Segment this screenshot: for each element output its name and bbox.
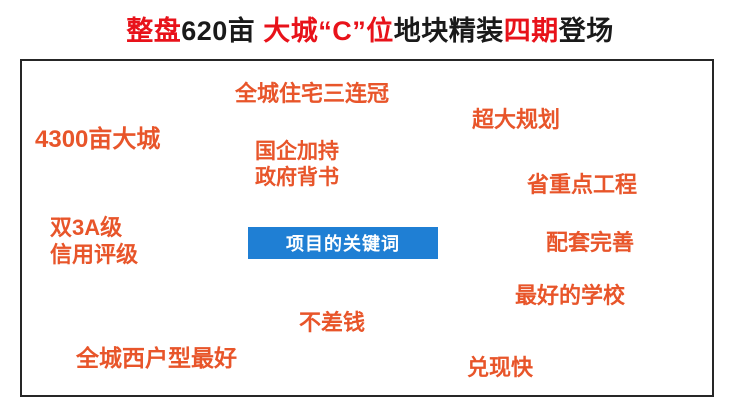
keyword-duixiankuai: 兑现快 [467, 355, 533, 381]
keyword-line: 双3A级 [50, 215, 138, 242]
title-segment-4: 位 [366, 16, 394, 46]
keyword-peitaowanshan: 配套完善 [546, 230, 634, 256]
title-segment-1: 620亩 [181, 16, 255, 46]
title-segment-3: “C” [318, 16, 366, 46]
title-segment-2: 大城 [255, 16, 318, 46]
keyword-shengzhongdian: 省重点工程 [527, 172, 637, 198]
keyword-line: 不差钱 [299, 310, 365, 336]
slide-canvas: 整盘620亩 大城“C”位地块精装四期登场 全城住宅三连冠超大规划4300亩大城… [0, 0, 740, 416]
keyword-chaodaguihua: 超大规划 [472, 107, 560, 133]
keyword-line: 配套完善 [546, 230, 634, 256]
title-segment-5: 地块精装 [394, 16, 504, 46]
keyword-line: 最好的学校 [515, 283, 625, 309]
keyword-quanchengxihuxing: 全城西户型最好 [76, 345, 237, 372]
keyword-quanchengzhuzhai: 全城住宅三连冠 [235, 81, 389, 107]
keyword-shuang3a: 双3A级信用评级 [50, 215, 138, 269]
keyword-line: 兑现快 [467, 355, 533, 381]
keyword-line: 国企加持 [255, 139, 339, 165]
keyword-line: 信用评级 [50, 242, 138, 269]
keyword-buchaqian: 不差钱 [299, 310, 365, 336]
keyword-line: 全城住宅三连冠 [235, 81, 389, 107]
title-segment-6: 四期 [504, 16, 559, 46]
title-segment-0: 整盘 [126, 16, 181, 46]
keyword-line: 政府背书 [255, 165, 339, 191]
page-title: 整盘620亩 大城“C”位地块精装四期登场 [0, 14, 740, 48]
keyword-guoqijiachi: 国企加持政府背书 [255, 139, 339, 190]
keyword-zuihaodexuexiao: 最好的学校 [515, 283, 625, 309]
keyword-line: 全城西户型最好 [76, 345, 237, 372]
center-keyword-chip: 项目的关键词 [248, 227, 438, 259]
keyword-line: 超大规划 [472, 107, 560, 133]
keyword-line: 省重点工程 [527, 172, 637, 198]
title-segment-7: 登场 [559, 16, 614, 46]
keyword-line: 4300亩大城 [35, 126, 160, 154]
keyword-simudacheng: 4300亩大城 [35, 126, 160, 154]
center-keyword-chip-label: 项目的关键词 [286, 230, 400, 256]
